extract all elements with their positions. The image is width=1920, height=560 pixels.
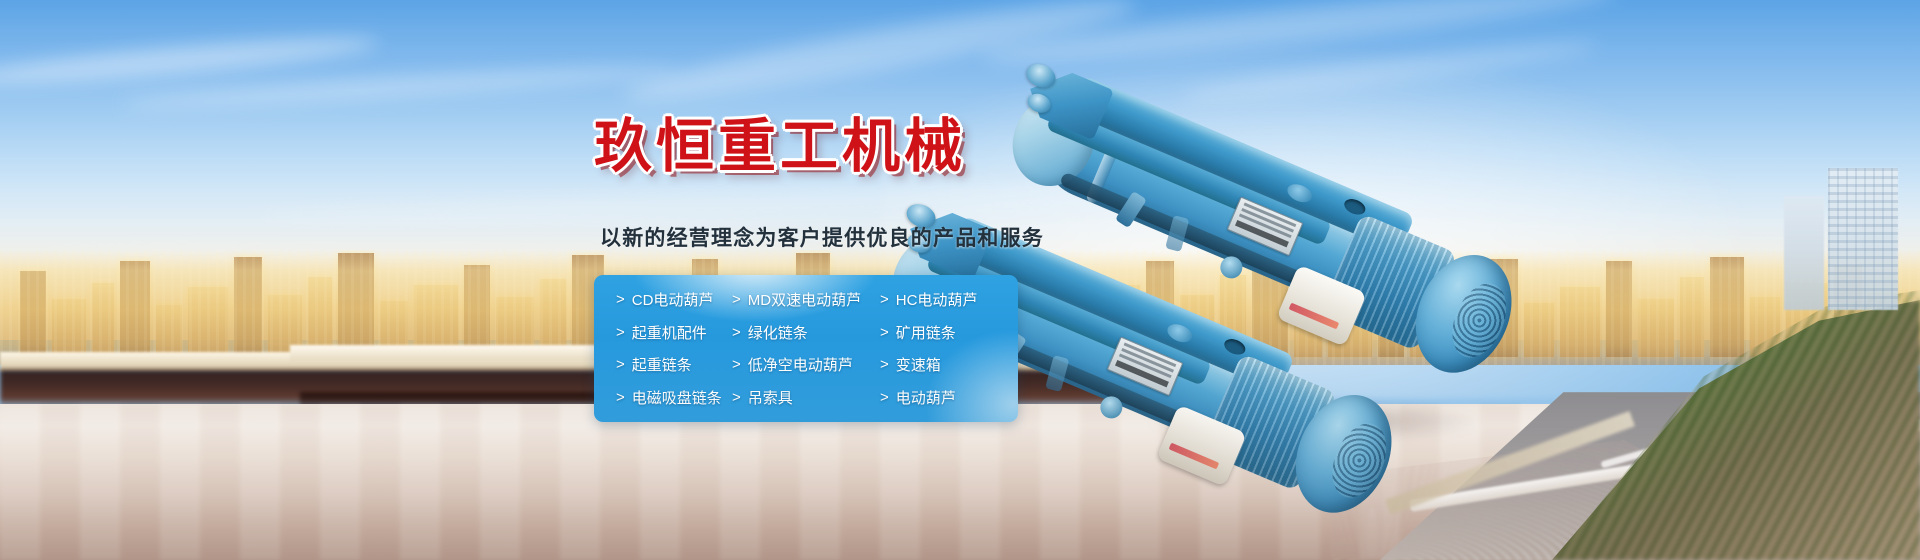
- product-category-link[interactable]: >起重链条: [594, 354, 732, 375]
- product-category-link[interactable]: >低净空电动葫芦: [732, 354, 880, 375]
- background-tower: [1828, 168, 1898, 310]
- chevron-right-icon: >: [880, 291, 889, 308]
- product-category-panel: >CD电动葫芦>MD双速电动葫芦>HC电动葫芦>起重机配件>绿化链条>矿用链条>…: [594, 275, 1018, 422]
- product-category-label: 绿化链条: [748, 322, 808, 343]
- chevron-right-icon: >: [880, 324, 889, 341]
- product-category-label: 电动葫芦: [896, 387, 956, 408]
- product-category-row: >起重链条>低净空电动葫芦>变速箱: [594, 349, 1018, 382]
- product-category-link[interactable]: >电动葫芦: [880, 387, 956, 408]
- chevron-right-icon: >: [732, 389, 741, 406]
- product-category-row: >电磁吸盘链条>吊索具>电动葫芦: [594, 381, 1018, 414]
- product-category-link[interactable]: >电磁吸盘链条: [594, 387, 732, 408]
- product-category-label: 电磁吸盘链条: [632, 387, 722, 408]
- product-category-label: 起重链条: [632, 354, 692, 375]
- product-category-link[interactable]: >绿化链条: [732, 322, 880, 343]
- product-category-label: 吊索具: [748, 387, 793, 408]
- product-category-row: >起重机配件>绿化链条>矿用链条: [594, 316, 1018, 349]
- product-category-row: >CD电动葫芦>MD双速电动葫芦>HC电动葫芦: [594, 283, 1018, 316]
- chevron-right-icon: >: [880, 389, 889, 406]
- background-tower: [1784, 196, 1824, 310]
- chevron-right-icon: >: [616, 291, 625, 308]
- company-tagline: 以新的经营理念为客户提供优良的产品和服务: [600, 222, 1044, 252]
- product-category-label: 变速箱: [896, 354, 941, 375]
- product-category-link[interactable]: >起重机配件: [594, 322, 732, 343]
- promo-banner: 玖恒重工机械 以新的经营理念为客户提供优良的产品和服务 >CD电动葫芦>MD双速…: [0, 0, 1920, 560]
- product-category-label: 起重机配件: [632, 322, 707, 343]
- chevron-right-icon: >: [880, 356, 889, 373]
- product-category-label: 矿用链条: [896, 322, 956, 343]
- chevron-right-icon: >: [616, 356, 625, 373]
- chevron-right-icon: >: [732, 356, 741, 373]
- product-category-label: MD双速电动葫芦: [748, 289, 861, 310]
- product-category-link[interactable]: >HC电动葫芦: [880, 289, 977, 310]
- product-category-label: 低净空电动葫芦: [748, 354, 853, 375]
- chevron-right-icon: >: [616, 324, 625, 341]
- chevron-right-icon: >: [616, 389, 625, 406]
- product-category-link[interactable]: >吊索具: [732, 387, 880, 408]
- product-category-link[interactable]: >矿用链条: [880, 322, 956, 343]
- product-category-link[interactable]: >MD双速电动葫芦: [732, 289, 880, 310]
- company-title: 玖恒重工机械: [594, 118, 966, 176]
- product-category-label: HC电动葫芦: [896, 289, 978, 310]
- product-category-link[interactable]: >变速箱: [880, 354, 941, 375]
- chevron-right-icon: >: [732, 324, 741, 341]
- product-category-label: CD电动葫芦: [632, 289, 714, 310]
- chevron-right-icon: >: [732, 291, 741, 308]
- product-category-link[interactable]: >CD电动葫芦: [594, 289, 732, 310]
